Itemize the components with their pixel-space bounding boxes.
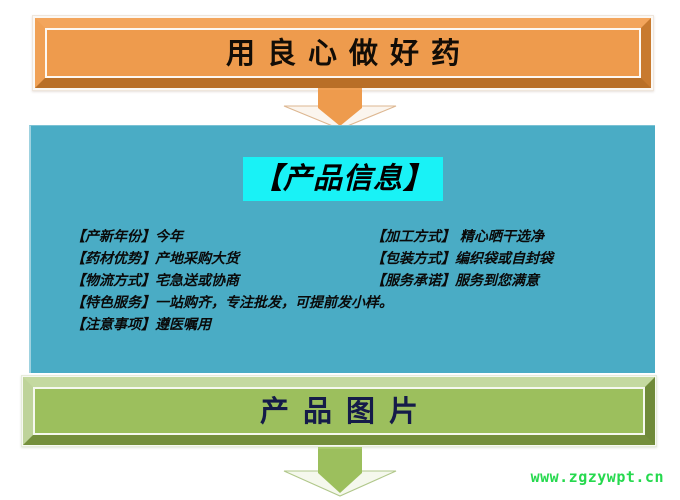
info-row-left: 【产新年份】今年 [71, 226, 371, 246]
info-row: 【特色服务】一站购齐，专注批发，可提前发小样。 [71, 292, 643, 314]
site-watermark: www.zgzywpt.cn [531, 468, 664, 486]
info-row: 【物流方式】宅急送或协商 【服务承诺】服务到您满意 [71, 270, 643, 292]
info-label: 【服务承诺】 [371, 273, 455, 289]
info-row-right: 【加工方式】 精心晒干选净 [371, 226, 544, 246]
info-value: 精心晒干选净 [455, 229, 544, 245]
info-label: 【注意事项】 [71, 317, 155, 333]
info-label: 【产新年份】 [71, 229, 155, 245]
info-value: 一站购齐，专注批发，可提前发小样。 [155, 295, 393, 311]
product-info-title: 【产品信息】 [243, 157, 443, 201]
arrow-shaft-top-edge [318, 88, 362, 90]
info-label: 【药材优势】 [71, 251, 155, 267]
info-label: 【特色服务】 [71, 295, 155, 311]
arrow-down-icon [282, 447, 398, 497]
product-image-banner-text: 产品图片 [246, 397, 432, 426]
info-row-left: 【物流方式】宅急送或协商 [71, 270, 371, 290]
info-value: 编织袋或自封袋 [455, 251, 553, 267]
product-image-banner-face: 产品图片 [35, 389, 643, 433]
info-label: 【包装方式】 [371, 251, 455, 267]
product-info-rows: 【产新年份】今年 【加工方式】 精心晒干选净 【药材优势】产地采购大货 【包装方… [71, 226, 643, 336]
poster-canvas: 用良心做好药 【产品信息】 【产新年份】今年 【加工方式】 精心晒干选净 【药材… [0, 0, 680, 500]
slogan-banner-face: 用良心做好药 [47, 30, 639, 76]
arrow-down-icon [282, 88, 398, 130]
product-info-title-row: 【产品信息】 [31, 157, 655, 201]
product-info-panel: 【产品信息】 【产新年份】今年 【加工方式】 精心晒干选净 【药材优势】产地采购… [29, 125, 655, 373]
product-image-banner: 产品图片 [21, 375, 657, 447]
info-row-right: 【包装方式】编织袋或自封袋 [371, 248, 553, 268]
info-value: 产地采购大货 [155, 251, 239, 267]
info-value: 今年 [155, 229, 183, 245]
info-row-right: 【服务承诺】服务到您满意 [371, 270, 539, 290]
info-row-left: 【药材优势】产地采购大货 [71, 248, 371, 268]
info-row: 【注意事项】遵医嘱用 [71, 314, 643, 336]
info-row-left: 【特色服务】一站购齐，专注批发，可提前发小样。 [71, 292, 393, 312]
info-value: 遵医嘱用 [155, 317, 211, 333]
slogan-banner: 用良心做好药 [32, 15, 654, 91]
info-row-left: 【注意事项】遵医嘱用 [71, 314, 211, 334]
info-row: 【药材优势】产地采购大货 【包装方式】编织袋或自封袋 [71, 248, 643, 270]
slogan-text: 用良心做好药 [214, 39, 472, 68]
arrow-down-icon-top [282, 88, 398, 130]
info-row: 【产新年份】今年 【加工方式】 精心晒干选净 [71, 226, 643, 248]
arrow-down-icon-bottom [282, 447, 398, 497]
info-label: 【物流方式】 [71, 273, 155, 289]
info-label: 【加工方式】 [371, 229, 455, 245]
arrow-shaft-top-edge [318, 447, 362, 449]
info-value: 宅急送或协商 [155, 273, 239, 289]
info-value: 服务到您满意 [455, 273, 539, 289]
